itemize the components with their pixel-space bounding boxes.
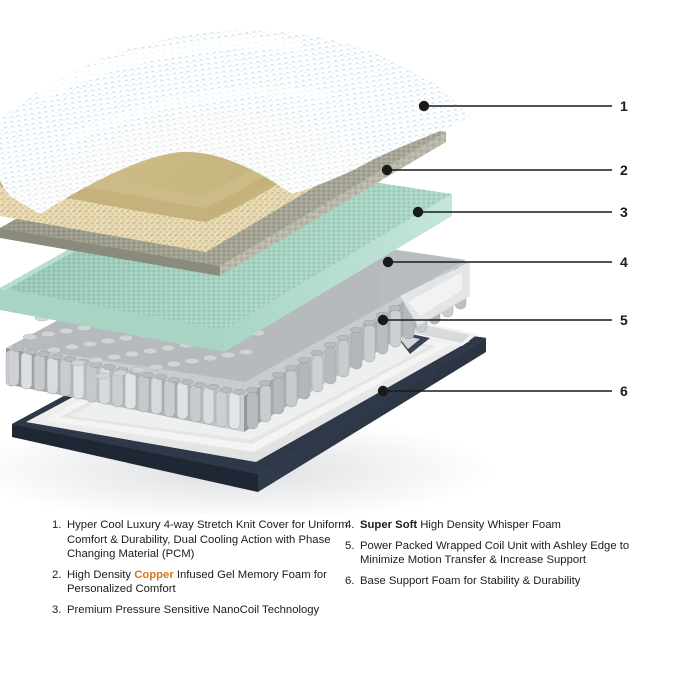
legend-item: 3.Premium Pressure Sensitive NanoCoil Te… — [52, 603, 352, 618]
diagram-page: 1 2 3 4 5 6 1.Hyper Cool Luxury 4-way St… — [0, 0, 700, 700]
legend-text-segment: High Density — [67, 569, 134, 581]
legend-column-left: 1.Hyper Cool Luxury 4-way Stretch Knit C… — [52, 518, 352, 624]
legend: 1.Hyper Cool Luxury 4-way Stretch Knit C… — [0, 518, 700, 700]
mattress-exploded-diagram — [0, 0, 700, 515]
legend-item-text: Hyper Cool Luxury 4-way Stretch Knit Cov… — [67, 518, 352, 562]
legend-item: 5.Power Packed Wrapped Coil Unit with As… — [345, 539, 645, 568]
legend-text-segment: Premium Pressure Sensitive NanoCoil Tech… — [67, 604, 319, 616]
leader-line-2 — [383, 166, 612, 175]
legend-item: 6.Base Support Foam for Stability & Dura… — [345, 574, 645, 589]
legend-item-number: 5. — [345, 539, 360, 554]
callout-number-2: 2 — [620, 163, 628, 177]
legend-item-number: 3. — [52, 603, 67, 618]
legend-text-segment: Copper — [134, 569, 174, 581]
legend-item-text: Power Packed Wrapped Coil Unit with Ashl… — [360, 539, 645, 568]
legend-item: 1.Hyper Cool Luxury 4-way Stretch Knit C… — [52, 518, 352, 562]
legend-item-text: High Density Copper Infused Gel Memory F… — [67, 568, 352, 597]
legend-item: 4.Super Soft High Density Whisper Foam — [345, 518, 645, 533]
legend-item-number: 6. — [345, 574, 360, 589]
legend-text-segment: Power Packed Wrapped Coil Unit with Ashl… — [360, 540, 629, 567]
legend-item-text: Base Support Foam for Stability & Durabi… — [360, 574, 645, 589]
legend-item-number: 1. — [52, 518, 67, 533]
legend-column-right: 4.Super Soft High Density Whisper Foam5.… — [345, 518, 645, 594]
legend-item-text: Super Soft High Density Whisper Foam — [360, 518, 645, 533]
legend-item: 2.High Density Copper Infused Gel Memory… — [52, 568, 352, 597]
legend-text-segment: Hyper Cool Luxury 4-way Stretch Knit Cov… — [67, 519, 348, 560]
callout-number-4: 4 — [620, 255, 628, 269]
legend-item-number: 2. — [52, 568, 67, 583]
callout-number-1: 1 — [620, 99, 628, 113]
callout-number-6: 6 — [620, 384, 628, 398]
callout-number-3: 3 — [620, 205, 628, 219]
legend-item-number: 4. — [345, 518, 360, 533]
legend-item-text: Premium Pressure Sensitive NanoCoil Tech… — [67, 603, 352, 618]
legend-text-segment: Base Support Foam for Stability & Durabi… — [360, 575, 580, 587]
legend-text-segment: Super Soft — [360, 519, 417, 531]
callout-number-5: 5 — [620, 313, 628, 327]
legend-text-segment: High Density Whisper Foam — [417, 519, 561, 531]
